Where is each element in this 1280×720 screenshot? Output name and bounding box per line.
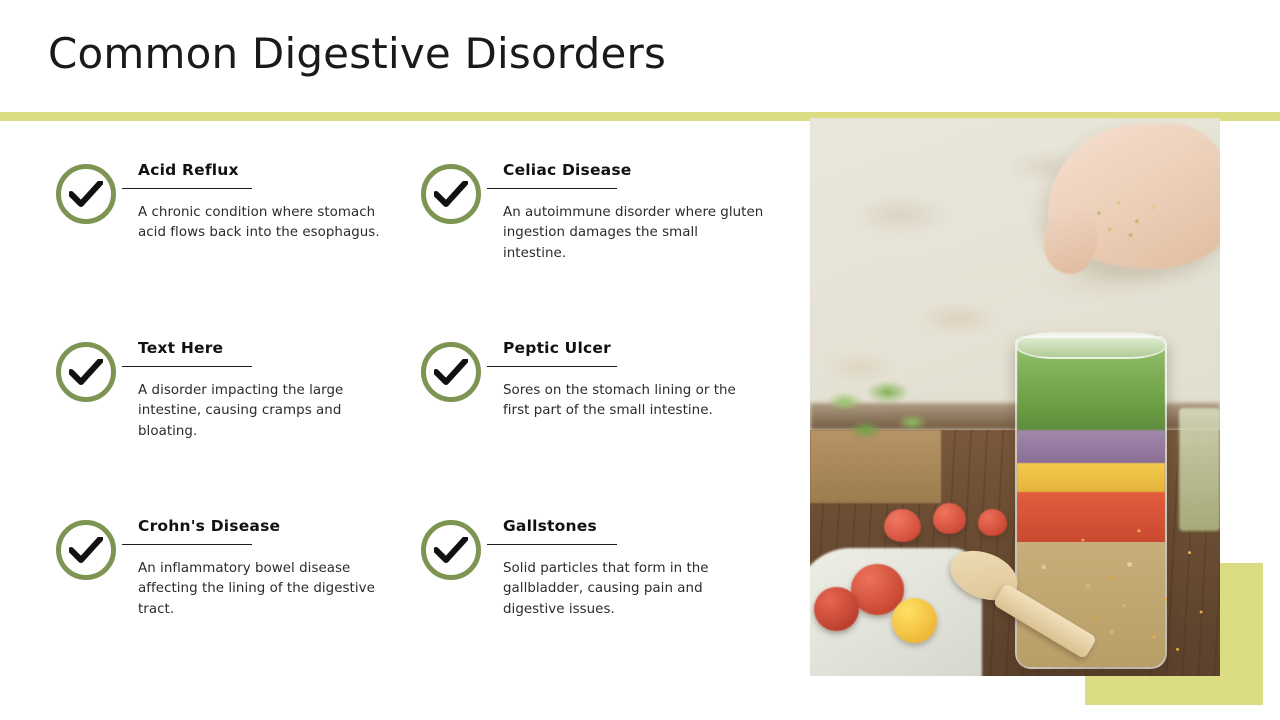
list-item-body: Celiac Disease An autoimmune disorder wh… bbox=[503, 162, 765, 264]
photo-jar-rim bbox=[1015, 332, 1167, 358]
feature-photo bbox=[810, 118, 1220, 676]
list-item-title: Gallstones bbox=[503, 518, 765, 536]
list-item-title: Text Here bbox=[138, 340, 400, 358]
check-icon bbox=[421, 164, 481, 224]
photo-tomato bbox=[978, 509, 1007, 537]
list-item-title: Crohn's Disease bbox=[138, 518, 400, 536]
photo-seeds bbox=[1081, 191, 1171, 247]
page-title: Common Digestive Disorders bbox=[48, 31, 666, 77]
check-icon bbox=[421, 342, 481, 402]
list-item-divider bbox=[122, 544, 252, 545]
photo-canvas bbox=[810, 118, 1220, 676]
list-item-body: Crohn's Disease An inflammatory bowel di… bbox=[138, 518, 400, 620]
photo-yellow-tomato bbox=[892, 598, 937, 643]
check-icon bbox=[421, 520, 481, 580]
photo-lettuce bbox=[814, 364, 937, 459]
list-item-divider bbox=[487, 188, 617, 189]
list-item-description: A disorder impacting the large intestine… bbox=[138, 381, 400, 442]
list-item-title: Peptic Ulcer bbox=[503, 340, 765, 358]
list-item-description: An inflammatory bowel disease affecting … bbox=[138, 559, 400, 620]
disorders-list: Acid Reflux A chronic condition where st… bbox=[0, 140, 800, 700]
list-item-body: Gallstones Solid particles that form in … bbox=[503, 518, 765, 620]
check-icon bbox=[56, 342, 116, 402]
title-area: Common Digestive Disorders bbox=[48, 14, 948, 94]
list-item-divider bbox=[122, 188, 252, 189]
check-icon bbox=[56, 520, 116, 580]
list-item-description: A chronic condition where stomach acid f… bbox=[138, 203, 400, 244]
list-item-body: Acid Reflux A chronic condition where st… bbox=[138, 162, 400, 244]
list-item-title: Celiac Disease bbox=[503, 162, 765, 180]
slide: Common Digestive Disorders bbox=[0, 0, 1280, 720]
list-item-divider bbox=[487, 366, 617, 367]
photo-jar-layer-onion bbox=[1017, 430, 1165, 466]
photo-tomato bbox=[884, 509, 921, 542]
list-item-body: Text Here A disorder impacting the large… bbox=[138, 340, 400, 442]
photo-lentils bbox=[1068, 509, 1216, 665]
list-item-title: Acid Reflux bbox=[138, 162, 400, 180]
list-item-description: Sores on the stomach lining or the first… bbox=[503, 381, 765, 422]
list-item-description: Solid particles that form in the gallbla… bbox=[503, 559, 765, 620]
list-item-divider bbox=[122, 366, 252, 367]
list-item-description: An autoimmune disorder where gluten inge… bbox=[503, 203, 765, 264]
check-icon bbox=[56, 164, 116, 224]
list-item-divider bbox=[487, 544, 617, 545]
list-item-body: Peptic Ulcer Sores on the stomach lining… bbox=[503, 340, 765, 422]
photo-tomato bbox=[933, 503, 966, 534]
